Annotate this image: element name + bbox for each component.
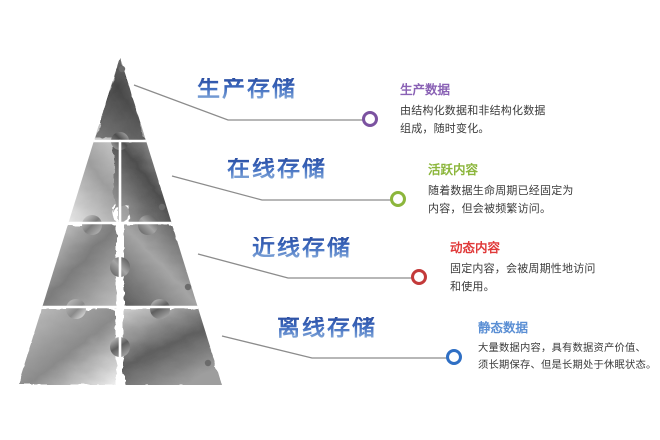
puzzle-pyramid-graphic <box>10 55 230 390</box>
callout-title-production: 生产数据 <box>400 82 600 97</box>
callout-offline: 静态数据 大量数据内容，具有数据资产价值、 须长期保存、但是长期处于休眠状态。 <box>478 320 660 374</box>
callout-online: 活跃内容 随着数据生命周期已经固定为 内容，但会被频繁访问。 <box>428 162 628 218</box>
callout-body-line: 须长期保存、但是长期处于休眠状态。 <box>478 357 660 374</box>
callout-production: 生产数据 由结构化数据和非结构化数据 组成，随时变化。 <box>400 82 600 138</box>
callout-nearline: 动态内容 固定内容，会被周期性地访问 和使用。 <box>450 240 650 296</box>
marker-dot-production <box>364 113 377 126</box>
callout-body-line: 随着数据生命周期已经固定为 <box>428 182 628 200</box>
tier-label-production: 生产存储 <box>197 78 297 101</box>
callout-body-online: 随着数据生命周期已经固定为 内容，但会被频繁访问。 <box>428 182 628 218</box>
callout-title-offline: 静态数据 <box>478 320 660 335</box>
callout-body-line: 内容，但会被频繁访问。 <box>428 200 628 218</box>
pyramid-svg <box>10 55 230 390</box>
callout-title-nearline: 动态内容 <box>450 240 650 255</box>
infographic-canvas: 生产存储 在线存储 近线存储 离线存储 生产数据 由结构化数据和非结构化数据 组… <box>0 0 660 440</box>
callout-body-line: 和使用。 <box>450 278 650 296</box>
marker-dot-online <box>392 193 405 206</box>
callout-body-line: 固定内容，会被周期性地访问 <box>450 260 650 278</box>
callout-body-line: 组成，随时变化。 <box>400 120 600 138</box>
callout-title-online: 活跃内容 <box>428 162 628 177</box>
marker-dot-nearline <box>413 271 426 284</box>
callout-body-nearline: 固定内容，会被周期性地访问 和使用。 <box>450 260 650 296</box>
tier-label-online: 在线存储 <box>227 158 327 181</box>
marker-dot-offline <box>448 351 461 364</box>
tier-label-offline: 离线存储 <box>277 317 377 340</box>
callout-body-line: 由结构化数据和非结构化数据 <box>400 102 600 120</box>
callout-body-line: 大量数据内容，具有数据资产价值、 <box>478 340 660 357</box>
callout-body-offline: 大量数据内容，具有数据资产价值、 须长期保存、但是长期处于休眠状态。 <box>478 340 660 374</box>
callout-body-production: 由结构化数据和非结构化数据 组成，随时变化。 <box>400 102 600 138</box>
tier-label-nearline: 近线存储 <box>252 237 352 260</box>
